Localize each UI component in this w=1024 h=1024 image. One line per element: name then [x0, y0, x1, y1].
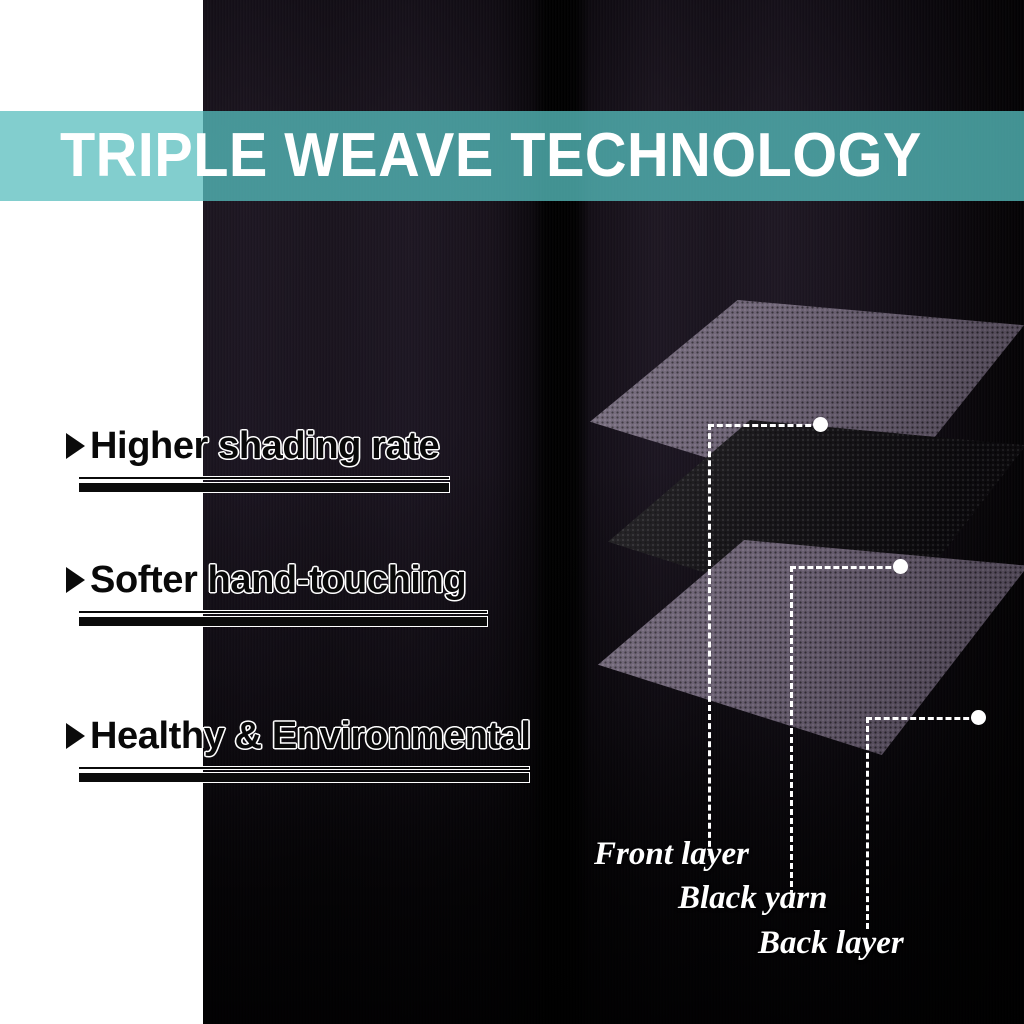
triangle-right-icon — [66, 723, 85, 749]
feature-underline-1 — [78, 476, 586, 493]
underline-thin — [78, 476, 450, 480]
front-layer-leader-dot — [813, 417, 828, 432]
black-yarn-leader-dot — [893, 559, 908, 574]
feature-underline-2 — [78, 610, 586, 627]
back-layer-sheet — [598, 540, 1024, 755]
headline-banner: TRIPLE WEAVE TECHNOLOGY — [0, 111, 1024, 201]
triangle-right-icon — [66, 567, 85, 593]
feature-underline-3 — [78, 766, 586, 783]
front-layer-label: Front layer — [594, 836, 749, 872]
underline-thick — [78, 482, 450, 493]
front-layer-leader-vertical — [708, 424, 711, 856]
feature-item-2: Softer hand-touching — [66, 558, 586, 627]
feature-label-1: Higher shading rate — [90, 424, 439, 468]
back-layer-label: Back layer — [758, 925, 904, 961]
feature-label-3: Healthy & Environmental — [90, 714, 531, 758]
banner-title: TRIPLE WEAVE TECHNOLOGY — [60, 111, 922, 201]
back-layer-leader-horizontal — [866, 717, 978, 720]
back-layer-leader-dot — [971, 710, 986, 725]
underline-thick — [78, 616, 488, 627]
front-layer-leader-horizontal — [708, 424, 820, 427]
feature-label-2: Softer hand-touching — [90, 558, 466, 602]
underline-thick — [78, 772, 530, 783]
underline-thin — [78, 766, 530, 770]
black-yarn-leader-horizontal — [790, 566, 900, 569]
feature-item-3: Healthy & Environmental — [66, 714, 586, 783]
triangle-right-icon — [66, 433, 85, 459]
product-feature-image: TRIPLE WEAVE TECHNOLOGY Higher shading r… — [0, 0, 1024, 1024]
fabric-layer-diagram — [590, 300, 1024, 830]
back-layer-leader-vertical — [866, 717, 869, 929]
black-yarn-label: Black yarn — [678, 880, 827, 916]
underline-thin — [78, 610, 488, 614]
feature-item-1: Higher shading rate — [66, 424, 586, 493]
black-yarn-leader-vertical — [790, 566, 793, 896]
back-layer-sheen — [598, 540, 1024, 755]
